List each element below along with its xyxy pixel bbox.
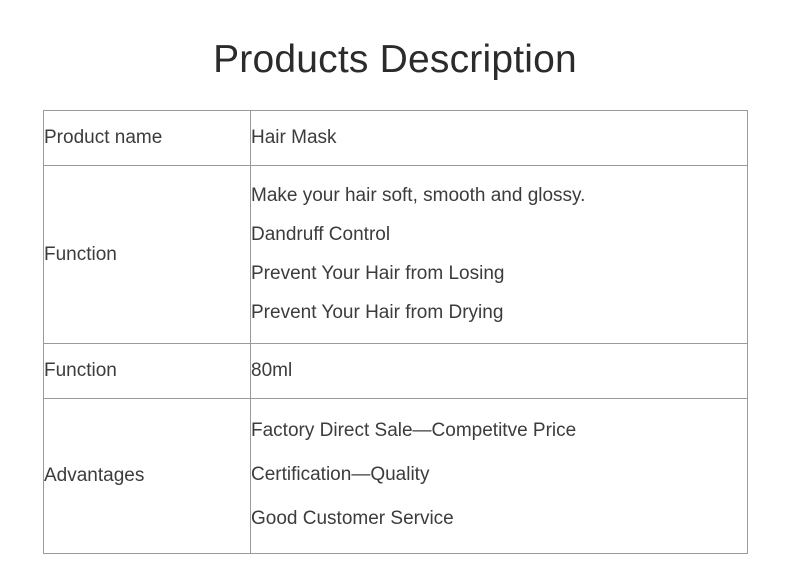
value-line: Make your hair soft, smooth and glossy. (251, 182, 747, 210)
row-value-advantages: Factory Direct Sale—Competitve Price Cer… (251, 399, 748, 554)
row-value-function-volume: 80ml (251, 344, 748, 399)
table-row: Product name Hair Mask (44, 111, 748, 166)
row-label-function-volume: Function (44, 344, 251, 399)
row-value-function-features: Make your hair soft, smooth and glossy. … (251, 166, 748, 344)
row-value-product-name: Hair Mask (251, 111, 748, 166)
page-title: Products Description (0, 36, 790, 84)
product-spec-table: Product name Hair Mask Function Make you… (43, 110, 748, 554)
spec-table-body: Product name Hair Mask Function Make you… (44, 111, 748, 554)
table-row: Function 80ml (44, 344, 748, 399)
value-line: Prevent Your Hair from Drying (251, 299, 747, 327)
row-label-product-name: Product name (44, 111, 251, 166)
table-row: Function Make your hair soft, smooth and… (44, 166, 748, 344)
value-line: Good Customer Service (251, 505, 747, 533)
product-description-page: Products Description Product name Hair M… (0, 0, 790, 570)
value-line: Certification—Quality (251, 461, 747, 489)
value-line: Dandruff Control (251, 221, 747, 249)
row-label-function-features: Function (44, 166, 251, 344)
table-row: Advantages Factory Direct Sale—Competitv… (44, 399, 748, 554)
value-line: Factory Direct Sale—Competitve Price (251, 417, 747, 445)
value-line: Prevent Your Hair from Losing (251, 260, 747, 288)
row-label-advantages: Advantages (44, 399, 251, 554)
